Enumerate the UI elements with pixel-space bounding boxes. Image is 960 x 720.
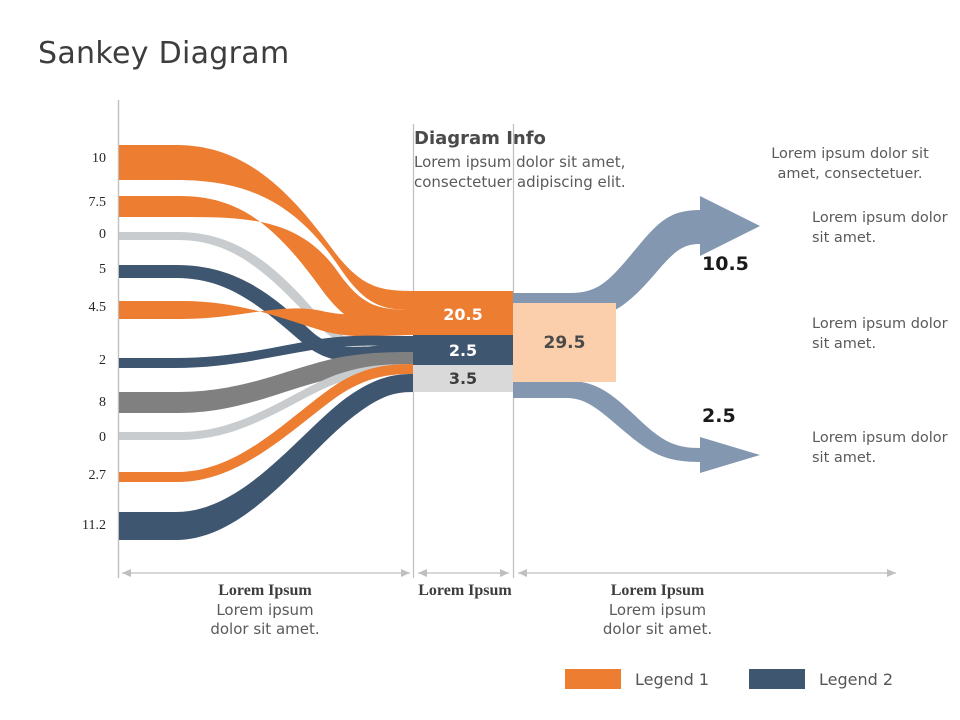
- diagram-info-body: Lorem ipsum dolor sit amet, consectetuer…: [414, 153, 672, 192]
- legend-label-2: Legend 2: [819, 670, 893, 689]
- axis-label-0: 10: [60, 151, 106, 167]
- category-caption-0: Lorem Ipsum Lorem ipsum dolor sit amet.: [140, 582, 390, 639]
- aggregate-node-label: 29.5: [513, 333, 616, 353]
- middle-node-label-3-5: 3.5: [413, 369, 513, 388]
- legend-item-2[interactable]: Legend 2: [749, 669, 893, 689]
- axis-label-3: 5: [60, 262, 106, 278]
- legend-label-1: Legend 1: [635, 670, 709, 689]
- flow-ribbon-10: [119, 145, 413, 310]
- flow-ribbons-left: [119, 145, 413, 540]
- category-sub-0: Lorem ipsum dolor sit amet.: [140, 601, 390, 639]
- middle-node-label-2-5: 2.5: [413, 341, 513, 360]
- sankey-diagram-page: Sankey Diagram: [0, 0, 960, 720]
- right-description-0: Lorem ipsum dolor sit amet, consectetuer…: [752, 145, 948, 184]
- axis-label-9: 11.2: [60, 518, 106, 534]
- axis-label-1: 7.5: [60, 195, 106, 211]
- axis-label-6: 8: [60, 395, 106, 411]
- legend: Legend 1 Legend 2: [565, 669, 893, 689]
- middle-node-label-20-5: 20.5: [413, 305, 513, 324]
- category-title-1: Lorem Ipsum: [380, 582, 550, 600]
- legend-swatch-1: [565, 669, 621, 689]
- right-description-3: Lorem ipsum dolor sit amet.: [812, 429, 960, 468]
- diagram-info-block: Diagram Info Lorem ipsum dolor sit amet,…: [414, 128, 672, 192]
- diagram-info-title: Diagram Info: [414, 128, 672, 149]
- bottom-axis-group: [122, 569, 896, 577]
- axis-label-2: 0: [60, 227, 106, 243]
- right-description-1: Lorem ipsum dolor sit amet.: [812, 209, 960, 248]
- category-caption-1: Lorem Ipsum: [380, 582, 550, 601]
- category-caption-2: Lorem Ipsum Lorem ipsum dolor sit amet.: [545, 582, 770, 639]
- right-description-2: Lorem ipsum dolor sit amet.: [812, 315, 960, 354]
- flow-callout-bottom: 2.5: [702, 405, 736, 427]
- legend-item-1[interactable]: Legend 1: [565, 669, 709, 689]
- axis-label-7: 0: [60, 430, 106, 446]
- flow-callout-top: 10.5: [702, 253, 749, 275]
- axis-label-4: 4.5: [60, 300, 106, 316]
- category-title-0: Lorem Ipsum: [140, 582, 390, 600]
- category-sub-2: Lorem ipsum dolor sit amet.: [545, 601, 770, 639]
- axis-label-5: 2: [60, 353, 106, 369]
- category-title-2: Lorem Ipsum: [545, 582, 770, 600]
- axis-label-8: 2.7: [60, 468, 106, 484]
- legend-swatch-2: [749, 669, 805, 689]
- flow-arrow-down: [513, 381, 760, 473]
